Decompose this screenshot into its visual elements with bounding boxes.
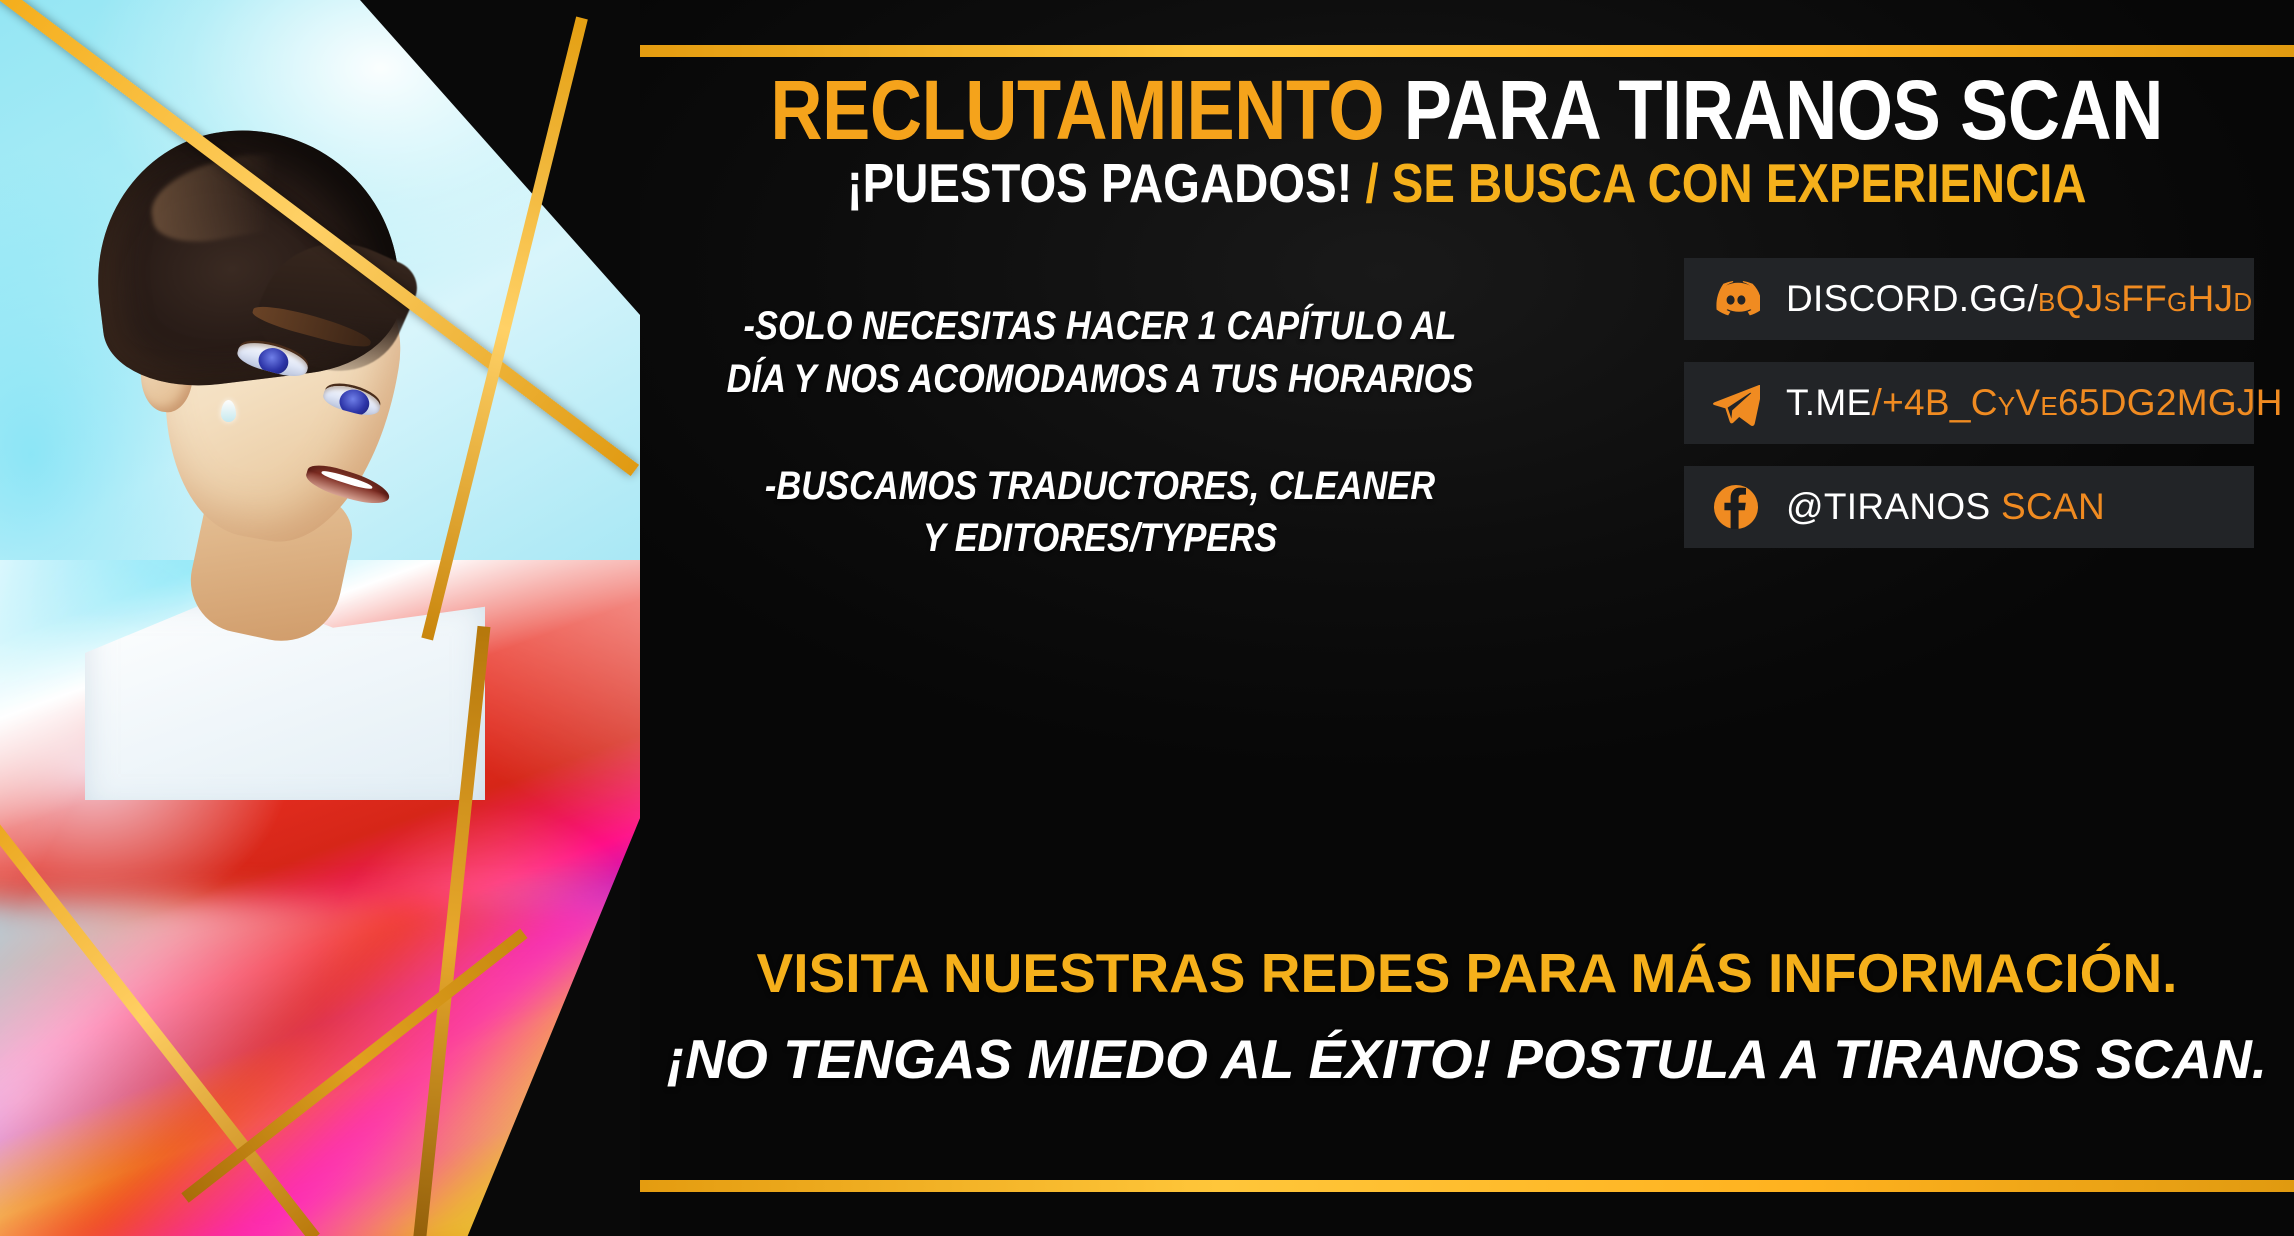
discord-icon — [1712, 275, 1760, 323]
title-highlight: RECLUTAMIENTO — [771, 63, 1385, 157]
title-rest: PARA TIRANOS SCAN — [1404, 63, 2163, 157]
footer-text-2: ¡NO TENGAS MIEDO AL ÉXITO! POSTULA A TIR… — [667, 1028, 2267, 1090]
character-artwork — [0, 0, 640, 1236]
telegram-link-text: T.ME/+4B_CyVe65DG2MGJH — [1786, 382, 2283, 424]
bullet-1-line-2: DÍA Y NOS ACOMODAMOS A TUS HORARIOS — [722, 353, 1479, 406]
bullet-1-line-1: -SOLO NECESITAS HACER 1 CAPÍTULO AL — [722, 300, 1479, 353]
footer-call-to-action: VISITA NUESTRAS REDES PARA MÁS INFORMACI… — [640, 940, 2294, 1092]
telegram-invite-code: /+4B_CyVe65DG2MGJH — [1871, 382, 2282, 423]
subtitle-experience: / SE BUSCA CON EXPERIENCIA — [1366, 152, 2087, 214]
character-sweat-drop — [221, 400, 236, 422]
bullet-2-line-2: Y EDITORES/TYPERS — [722, 512, 1479, 565]
facebook-icon — [1712, 483, 1760, 531]
subtitle-paid: ¡PUESTOS PAGADOS! — [847, 152, 1352, 214]
gold-rule-top — [640, 45, 2294, 57]
telegram-domain: T.ME — [1786, 382, 1871, 423]
footer-text-1: VISITA NUESTRAS REDES PARA MÁS INFORMACI… — [757, 942, 2178, 1004]
gold-rule-bottom — [640, 1180, 2294, 1192]
recruitment-banner: RECLUTAMIENTO PARA TIRANOS SCAN ¡PUESTOS… — [0, 0, 2294, 1236]
facebook-handle-accent: SCAN — [2001, 486, 2105, 527]
content-panel: RECLUTAMIENTO PARA TIRANOS SCAN ¡PUESTOS… — [640, 0, 2294, 1236]
discord-domain: DISCORD.GG/ — [1786, 278, 2038, 319]
page-subtitle: ¡PUESTOS PAGADOS! / SE BUSCA CON EXPERIE… — [640, 155, 2294, 213]
discord-link-text: DISCORD.GG/bQJsFFgHJd — [1786, 278, 2252, 320]
contact-links: DISCORD.GG/bQJsFFgHJd T.ME/+4B_CyVe65DG2… — [1684, 258, 2254, 548]
contact-telegram[interactable]: T.ME/+4B_CyVe65DG2MGJH — [1684, 362, 2254, 444]
list-item: -BUSCAMOS TRADUCTORES, CLEANER Y EDITORE… — [660, 460, 1540, 566]
bullet-2-line-1: -BUSCAMOS TRADUCTORES, CLEANER — [722, 460, 1479, 513]
character-portrait — [55, 120, 475, 680]
contact-discord[interactable]: DISCORD.GG/bQJsFFgHJd — [1684, 258, 2254, 340]
footer-line-1: VISITA NUESTRAS REDES PARA MÁS INFORMACI… — [640, 940, 2294, 1006]
facebook-link-text: @TIRANOS SCAN — [1786, 486, 2105, 528]
discord-invite-code: bQJsFFgHJd — [2038, 278, 2252, 319]
requirements-list: -SOLO NECESITAS HACER 1 CAPÍTULO AL DÍA … — [660, 300, 1540, 619]
page-title: RECLUTAMIENTO PARA TIRANOS SCAN — [640, 66, 2294, 154]
contact-facebook[interactable]: @TIRANOS SCAN — [1684, 466, 2254, 548]
facebook-handle: @TIRANOS — [1786, 486, 1990, 527]
list-item: -SOLO NECESITAS HACER 1 CAPÍTULO AL DÍA … — [660, 300, 1540, 406]
telegram-icon — [1712, 379, 1760, 427]
footer-line-2: ¡NO TENGAS MIEDO AL ÉXITO! POSTULA A TIR… — [640, 1026, 2294, 1092]
